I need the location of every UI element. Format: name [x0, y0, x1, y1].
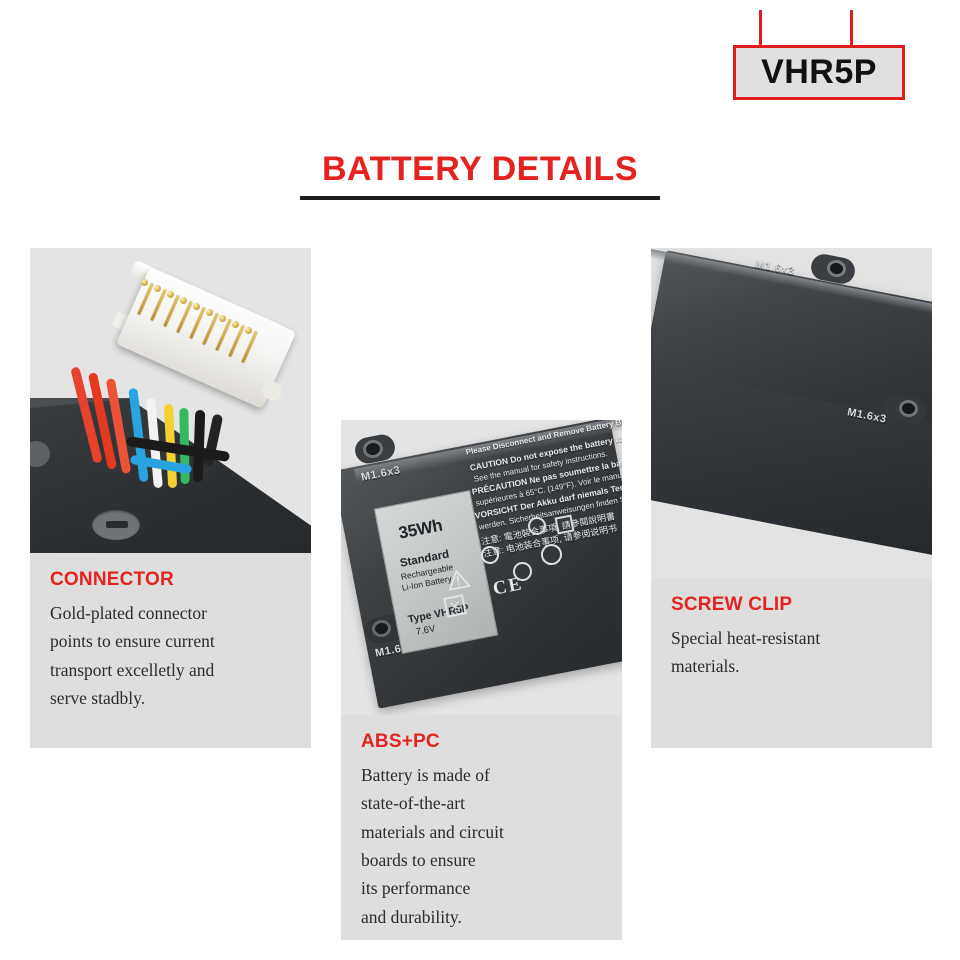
gold-pin-head-3	[167, 291, 174, 298]
abspc-heading: ABS+PC	[361, 731, 602, 753]
screwclip-caption: SCREW CLIP Special heat-resistant materi…	[651, 578, 932, 691]
connector-desc-line-1: Gold-plated connector	[50, 599, 291, 627]
callout-leader-line-right	[850, 10, 853, 48]
battery-label-photo: M1.6x3 M1.6x3 35Wh Standard Rechargeable…	[341, 420, 622, 715]
abspc-desc-line-2: state-of-the-art	[361, 789, 602, 817]
recycle-icon	[443, 594, 466, 617]
screwclip-desc-line-2: materials.	[671, 652, 912, 680]
model-number-text: VHR5P	[761, 53, 877, 92]
certification-square-icon	[555, 515, 575, 535]
callout-leader-line-left	[759, 10, 762, 48]
connector-caption: CONNECTOR Gold-plated connector points t…	[30, 553, 311, 722]
screwclip-heading: SCREW CLIP	[671, 594, 912, 616]
screw-clip-photo: M1.6x3 M1.6x3	[651, 248, 932, 578]
connector-heading: CONNECTOR	[50, 569, 291, 591]
gold-pin-head-5	[193, 303, 200, 310]
connector-desc-line-4: serve stadbly.	[50, 684, 291, 712]
feature-panel-connector: CONNECTOR Gold-plated connector points t…	[30, 248, 311, 748]
abspc-caption: ABS+PC Battery is made of state-of-the-a…	[341, 715, 622, 941]
feature-panel-screwclip: M1.6x3 M1.6x3 SCREW CLIP Special heat-re…	[651, 248, 932, 748]
connector-photo	[30, 248, 311, 553]
abspc-desc-line-5: its performance	[361, 874, 602, 902]
abspc-desc-line-6: and durability.	[361, 903, 602, 931]
abspc-desc-line-4: boards to ensure	[361, 846, 602, 874]
gold-pin-head-7	[219, 315, 226, 322]
gold-pin-head-2	[154, 285, 161, 292]
abspc-description: Battery is made of state-of-the-art mate…	[361, 761, 602, 931]
page-title-block: BATTERY DETAILS	[300, 152, 660, 200]
gold-pin-head-9	[245, 327, 252, 334]
gold-pin-head-8	[232, 321, 239, 328]
gold-pin-head-4	[180, 297, 187, 304]
connector-description: Gold-plated connector points to ensure c…	[50, 599, 291, 712]
model-badge: VHR5P	[733, 45, 905, 100]
abspc-desc-line-3: materials and circuit	[361, 818, 602, 846]
title-underline-rule	[300, 196, 660, 200]
page-title: BATTERY DETAILS	[300, 152, 660, 188]
connector-desc-line-2: points to ensure current	[50, 627, 291, 655]
gold-pin-head-1	[141, 279, 148, 286]
connector-desc-line-3: transport excelletly and	[50, 656, 291, 684]
model-badge-callout: VHR5P	[733, 10, 905, 100]
feature-panel-abspc: M1.6x3 M1.6x3 35Wh Standard Rechargeable…	[341, 420, 622, 940]
abspc-desc-line-1: Battery is made of	[361, 761, 602, 789]
screwclip-description: Special heat-resistant materials.	[671, 624, 912, 681]
gold-pin-head-6	[206, 309, 213, 316]
screw-slot	[106, 521, 128, 528]
screwclip-desc-line-1: Special heat-resistant	[671, 624, 912, 652]
